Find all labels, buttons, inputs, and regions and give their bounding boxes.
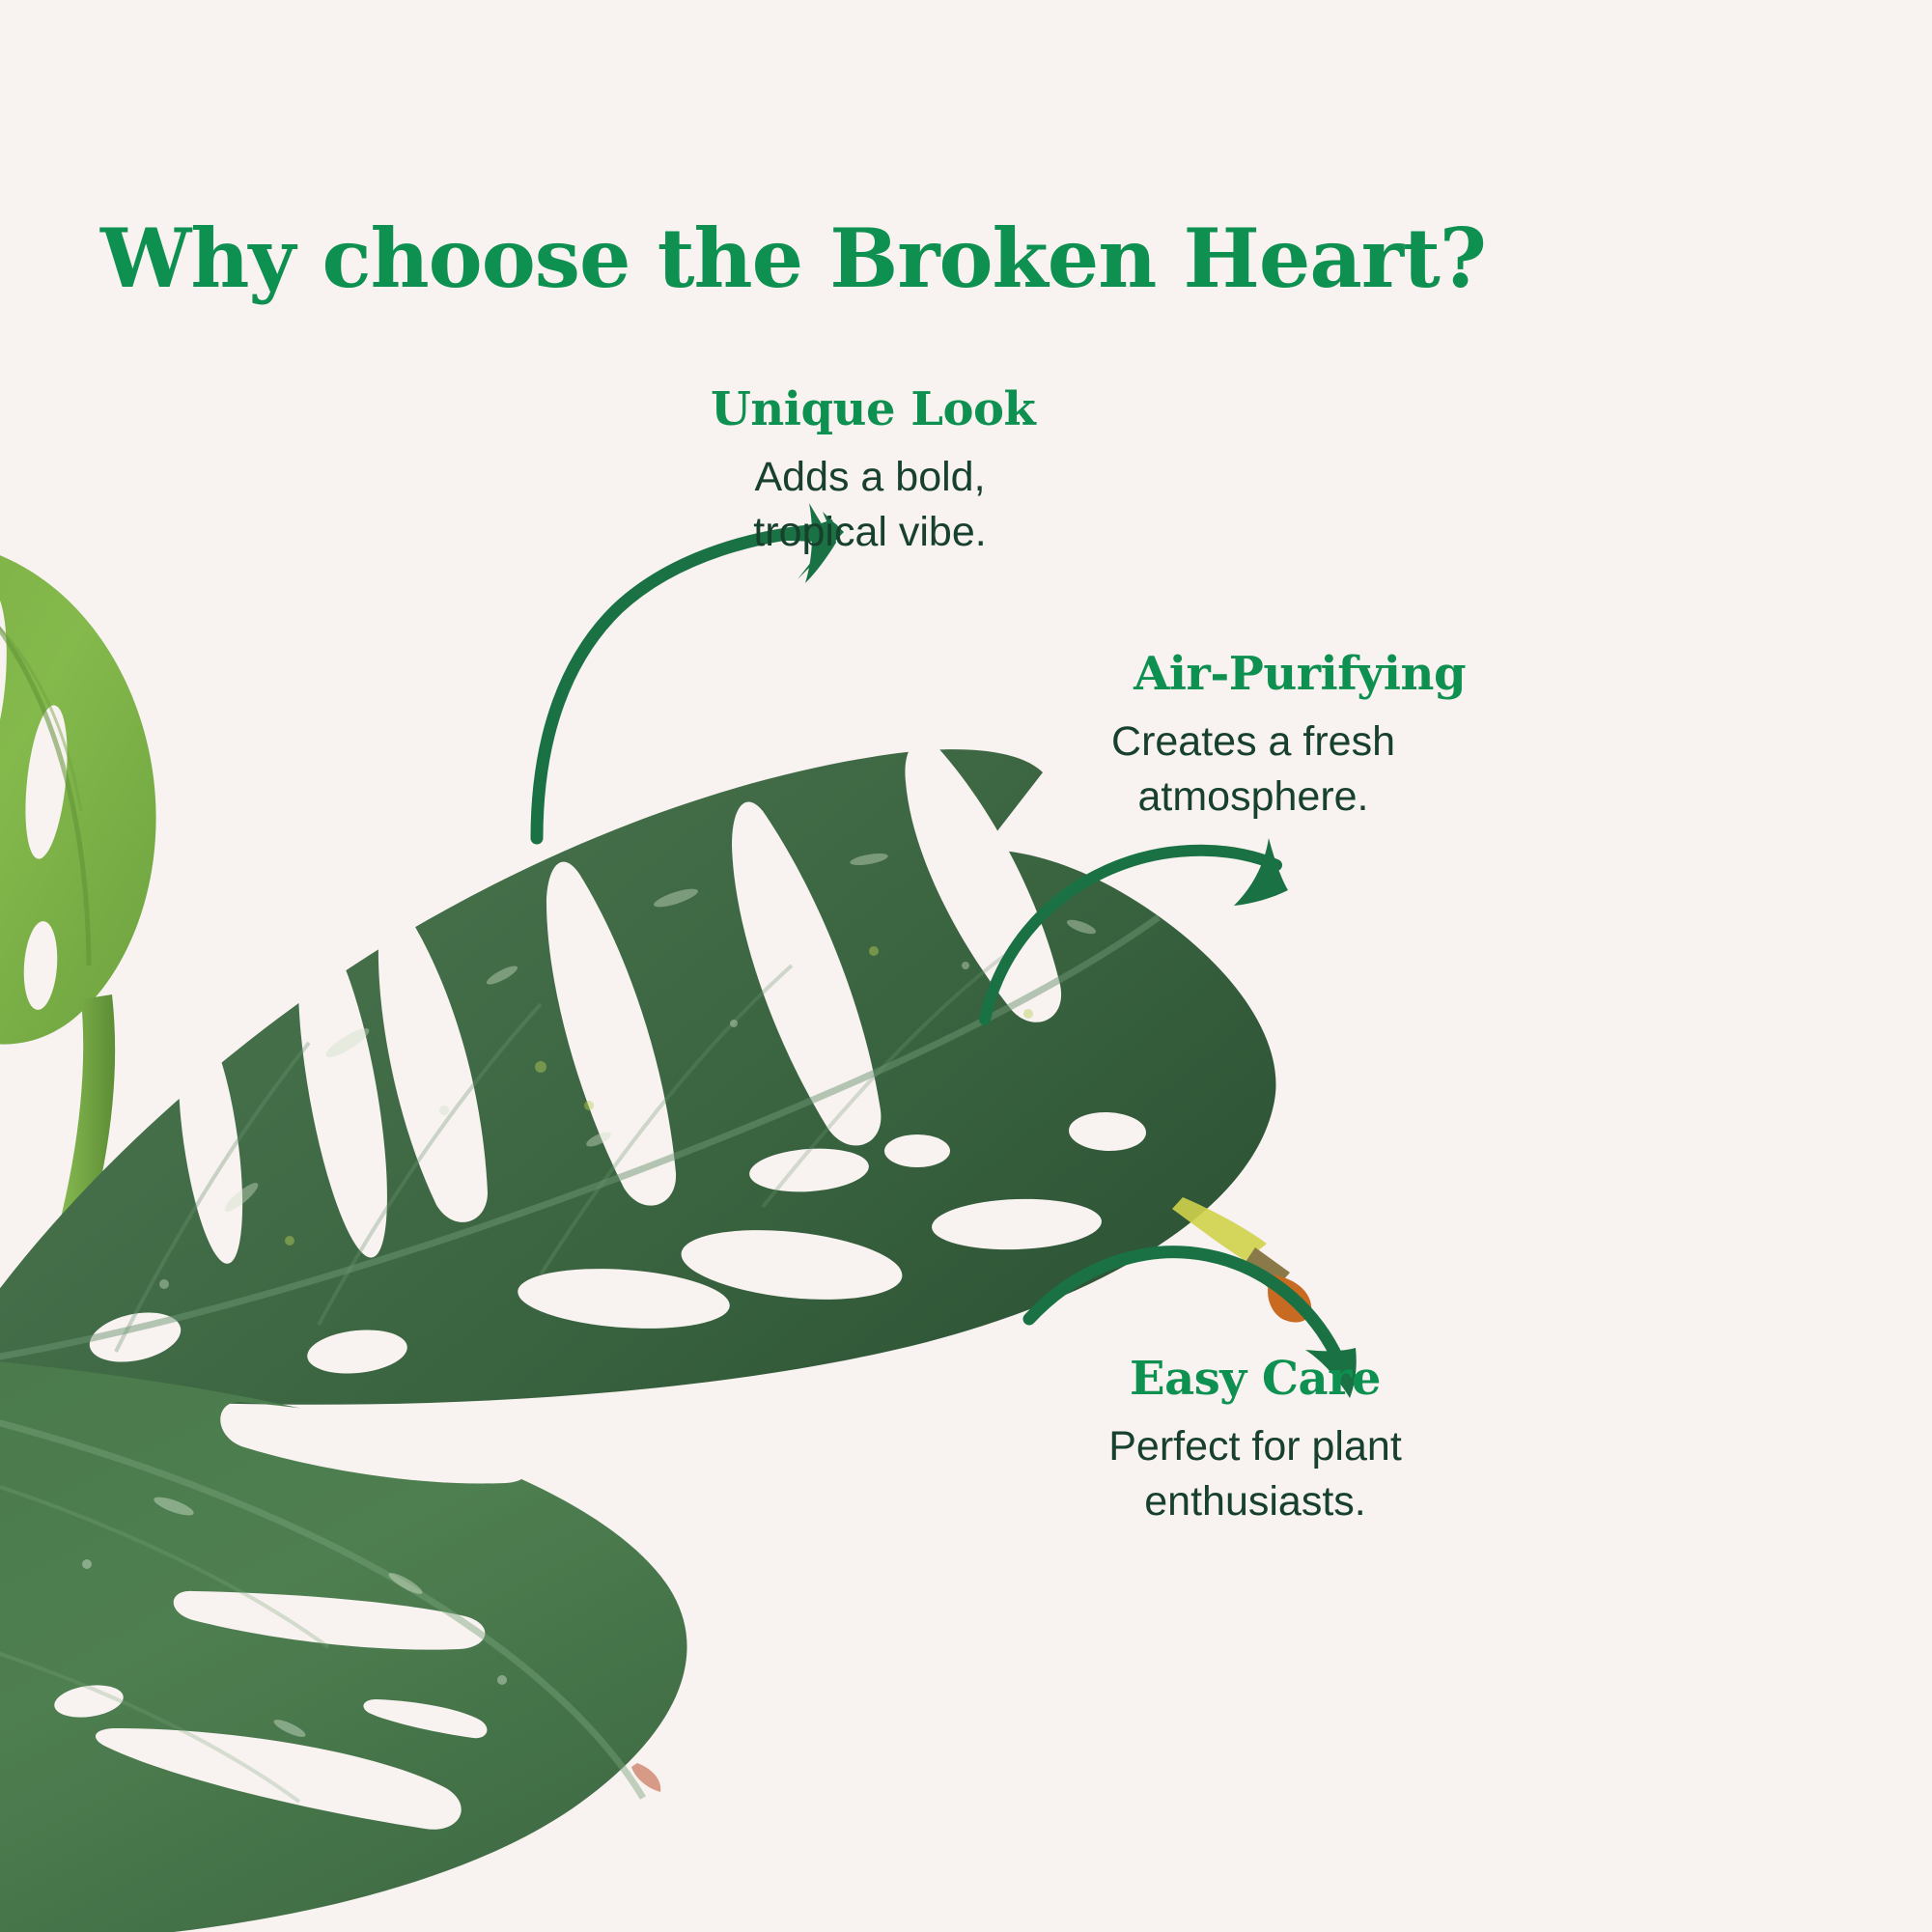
feature-title-air-purifying: Air-Purifying bbox=[1041, 647, 1466, 701]
feature-desc-line: tropical vibe. bbox=[711, 505, 1029, 560]
feature-desc-line: atmosphere. bbox=[1041, 770, 1466, 825]
page-title: Why choose the Broken Heart? bbox=[100, 210, 1549, 306]
feature-desc-line: Perfect for plant bbox=[1043, 1419, 1468, 1474]
feature-desc-unique-look: Adds a bold, tropical vibe. bbox=[711, 450, 1029, 560]
lower-fenestrated-leaf bbox=[0, 1352, 687, 1932]
feature-title-unique-look: Unique Look bbox=[711, 382, 1126, 436]
upper-small-leaf bbox=[0, 541, 156, 1045]
feature-unique-look: Unique Look Adds a bold, tropical vibe. bbox=[711, 382, 1126, 560]
feature-desc-line: Adds a bold, bbox=[711, 450, 1029, 505]
feature-desc-easy-care: Perfect for plant enthusiasts. bbox=[1043, 1419, 1468, 1529]
feature-easy-care: Easy Care Perfect for plant enthusiasts. bbox=[1043, 1352, 1468, 1529]
large-fenestrated-leaf bbox=[0, 749, 1311, 1405]
promo-graphic: Why choose the Broken Heart? Unique Look… bbox=[0, 0, 1932, 1932]
feature-title-easy-care: Easy Care bbox=[1043, 1352, 1468, 1406]
feature-desc-line: Creates a fresh bbox=[1041, 714, 1466, 770]
feature-desc-line: enthusiasts. bbox=[1043, 1474, 1468, 1529]
feature-desc-air-purifying: Creates a fresh atmosphere. bbox=[1041, 714, 1466, 825]
feature-air-purifying: Air-Purifying Creates a fresh atmosphere… bbox=[1041, 647, 1466, 825]
